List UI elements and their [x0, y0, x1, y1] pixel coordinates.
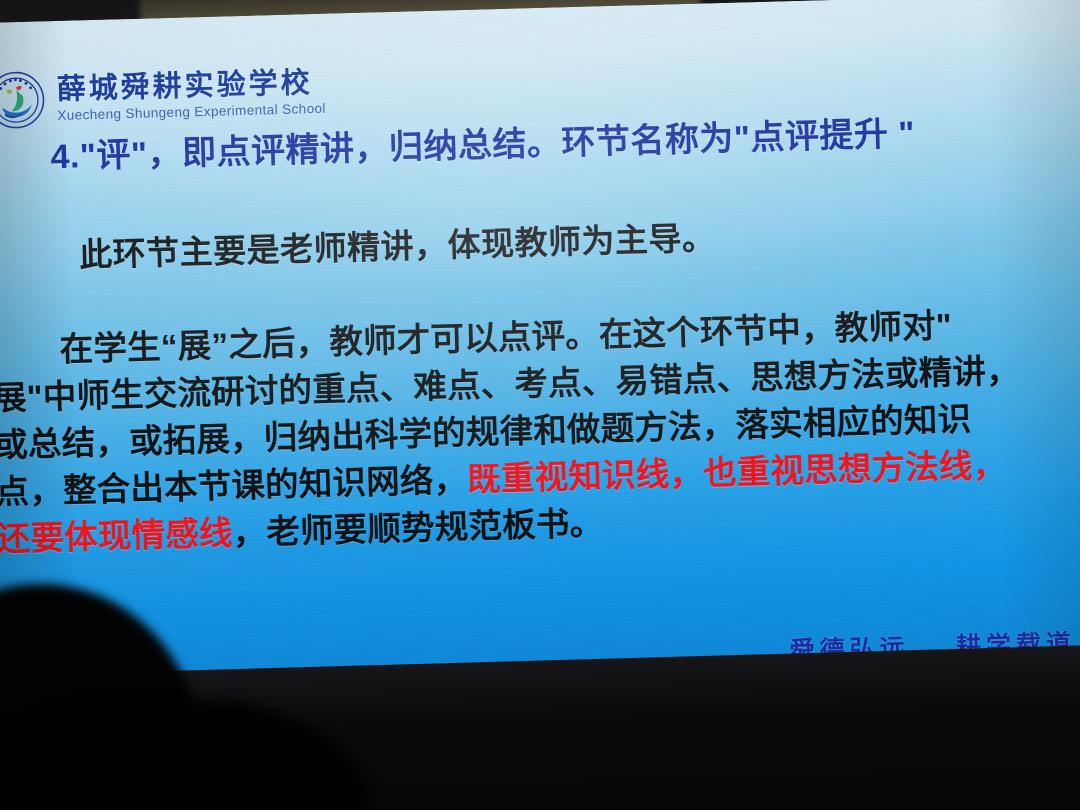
school-name-block: 薛城舜耕实验学校 Xuecheng Shungeng Experimental … [56, 68, 326, 123]
text-run-5-2: ，老师要顺势规范板书。 [232, 505, 604, 552]
projection-screen: 薛城舜耕实验学校 Xuecheng Shungeng Experimental … [0, 0, 1080, 713]
text-run-4-1: 点，整合出本节课的知识网络， [0, 462, 468, 512]
slide-lead-sentence: 此环节主要是老师精讲，体现教师为主导。 [78, 211, 716, 276]
presentation-slide: 薛城舜耕实验学校 Xuecheng Shungeng Experimental … [0, 0, 1080, 713]
text-run-5-1: 还要体现情感线 [0, 515, 233, 558]
photographed-room-scene: 薛城舜耕实验学校 Xuecheng Shungeng Experimental … [0, 0, 1080, 810]
school-crest-icon [0, 70, 46, 130]
slide-body-paragraph: 在学生“展”之后，教师才可以点评。在这个环节中，教师对"展"中师生交流研讨的重点… [0, 300, 1067, 564]
text-run-4-2: 既重视知识线，也重视思想方法线， [467, 447, 1007, 499]
school-name-cn: 薛城舜耕实验学校 [56, 68, 325, 106]
